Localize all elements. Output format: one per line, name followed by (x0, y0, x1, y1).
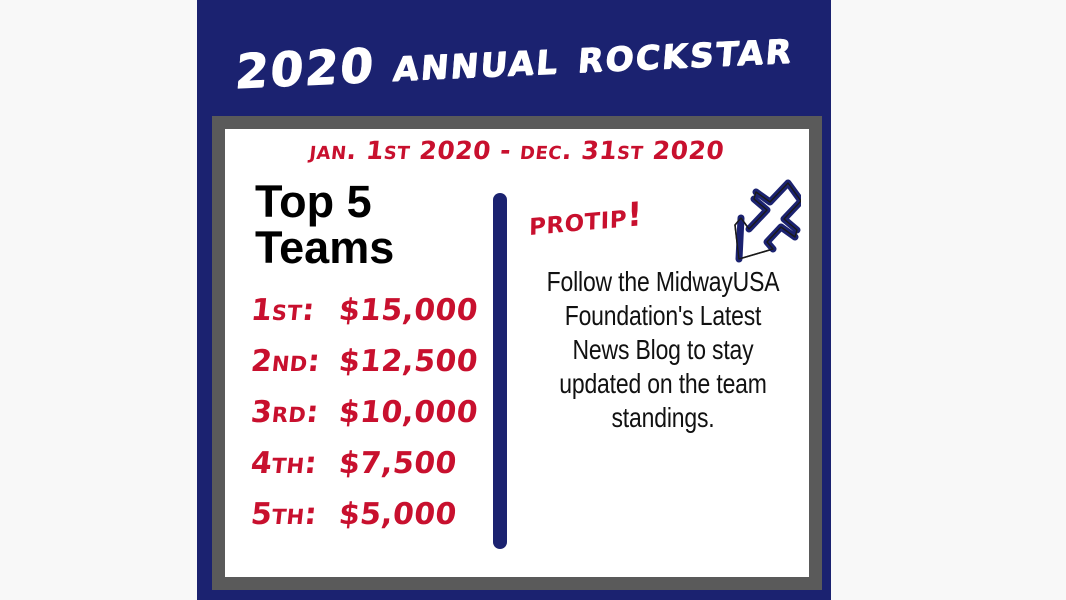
prize-amount: $7,500 (336, 438, 492, 489)
prize-place: 3rd: (248, 387, 341, 438)
top-teams-column: Top 5 Teams 1st: $15,000 2nd: $12,500 (235, 177, 490, 577)
prize-row: 3rd: $10,000 (248, 387, 492, 438)
prize-list: 1st: $15,000 2nd: $12,500 3rd: $10,000 (235, 285, 490, 540)
top-teams-heading: Top 5 Teams (235, 177, 490, 271)
protip-header-row: ProTip! (517, 177, 809, 265)
top-teams-heading-line2: Teams (255, 225, 490, 271)
vertical-divider-bar (493, 193, 507, 549)
banner-title: 2020 Annual Rockstar (233, 19, 795, 100)
protip-column: ProTip! Follow the MidwayUSA Foundation'… (517, 177, 809, 577)
prize-place: 5th: (248, 489, 341, 540)
top-teams-heading-line1: Top 5 (255, 179, 490, 225)
prize-amount: $5,000 (336, 489, 492, 540)
card-gray-frame: Jan. 1st 2020 - Dec. 31st 2020 Top 5 Tea… (212, 116, 822, 590)
card-white-surface: Jan. 1st 2020 - Dec. 31st 2020 Top 5 Tea… (225, 129, 809, 577)
prize-amount: $10,000 (336, 387, 492, 438)
down-left-arrow-icon (729, 177, 801, 267)
prize-amount: $12,500 (336, 336, 492, 387)
card-body-columns: Top 5 Teams 1st: $15,000 2nd: $12,500 (225, 177, 809, 577)
prize-place: 2nd: (248, 336, 341, 387)
date-range-label: Jan. 1st 2020 - Dec. 31st 2020 (223, 136, 810, 165)
prize-amount: $15,000 (336, 285, 492, 336)
prize-row: 4th: $7,500 (248, 438, 492, 489)
prize-place: 1st: (248, 285, 341, 336)
prize-row: 2nd: $12,500 (248, 336, 492, 387)
protip-label: ProTip! (529, 194, 643, 243)
prize-row: 1st: $15,000 (248, 285, 492, 336)
banner-title-container: 2020 Annual Rockstar (197, 14, 831, 104)
protip-blurb: Follow the MidwayUSA Foundation's Latest… (543, 265, 782, 435)
prize-row: 5th: $5,000 (248, 489, 492, 540)
prize-place: 4th: (248, 438, 341, 489)
poster-canvas: 2020 Annual Rockstar Jan. 1st 2020 - Dec… (0, 0, 1066, 600)
